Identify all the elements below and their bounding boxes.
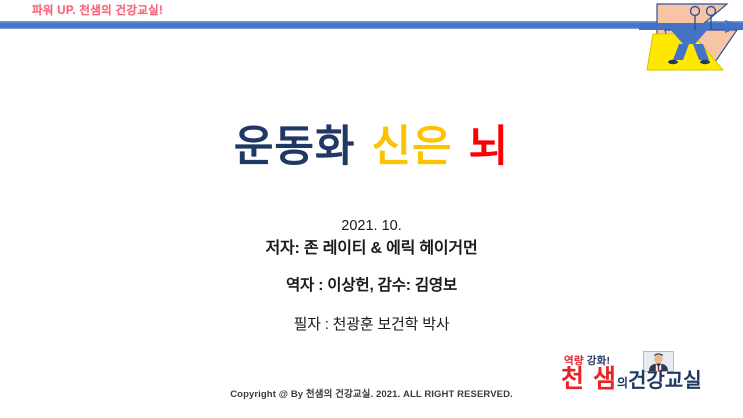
brand-logo: 역량강화! 천 샘의건강교실: [561, 353, 739, 398]
title-word-wearing: 신은: [372, 126, 453, 169]
credits-block: 2021. 10. 저자: 존 레이티 & 에릭 헤이거먼 역자 : 이상헌, …: [0, 216, 743, 335]
brand-name-navy: 건강교실: [628, 370, 702, 392]
slide-title: 운동화신은뇌: [0, 126, 743, 169]
brand-name: 천 샘의건강교실: [561, 367, 702, 392]
title-word-brain: 뇌: [469, 126, 510, 169]
brand-name-red: 천 샘: [561, 365, 617, 393]
author-line: 저자: 존 레이티 & 에릭 헤이거먼: [0, 237, 743, 260]
presentation-slide: 파워 UP. 천샘의 건강교실!: [0, 0, 743, 418]
slide-header-title: 파워 UP. 천샘의 건강교실!: [32, 2, 163, 18]
header-divider-bar: [0, 21, 743, 29]
writer-line: 필자 : 천광훈 보건학 박사: [0, 314, 743, 336]
title-word-exercise-shoes: 운동화: [234, 126, 356, 169]
shoe-brain-illustration: [639, 0, 743, 78]
publication-date: 2021. 10.: [0, 216, 743, 237]
brand-name-particle: 의: [617, 376, 628, 390]
translator-line: 역자 : 이상헌, 감수: 김영보: [0, 275, 743, 297]
